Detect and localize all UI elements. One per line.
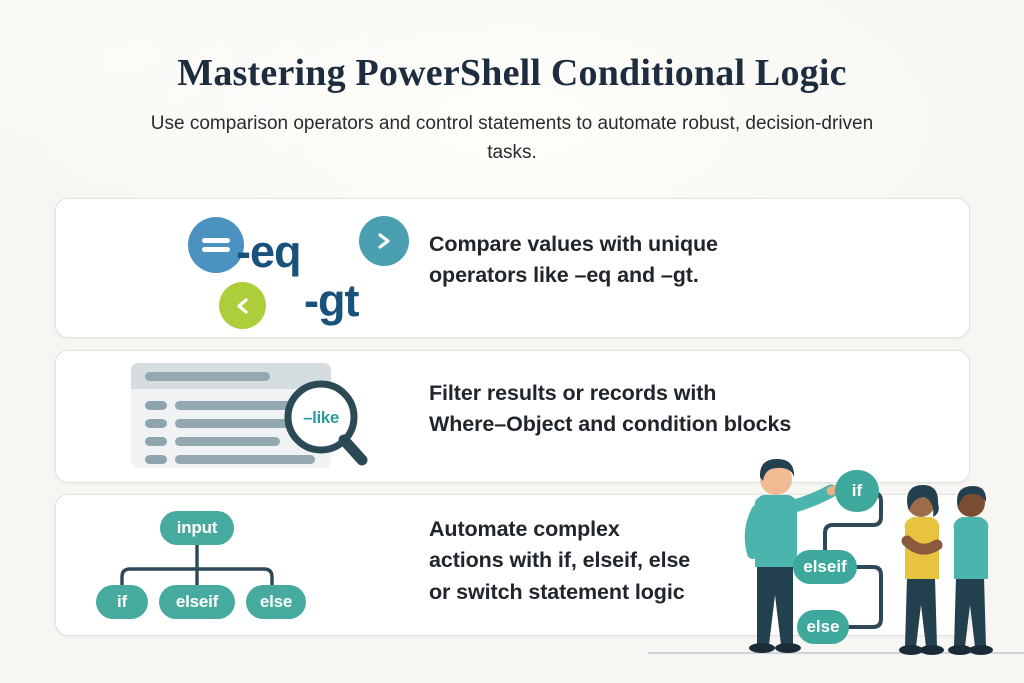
card-3-line-2: actions with if, elseif, else xyxy=(429,545,690,576)
illustration-pill-elseif: elseif xyxy=(793,550,857,584)
flow-node-input: input xyxy=(160,511,234,545)
flow-node-if: if xyxy=(96,585,148,619)
page-subtitle: Use comparison operators and control sta… xyxy=(132,110,892,168)
presenter-illustration: if elseif else xyxy=(735,455,1024,665)
page-title: Mastering PowerShell Conditional Logic xyxy=(0,52,1024,96)
illustration-people xyxy=(735,455,1024,665)
less-than-icon xyxy=(219,282,266,329)
infographic-page: Mastering PowerShell Conditional Logic U… xyxy=(0,0,1024,683)
card-2-line-1: Filter results or records with xyxy=(429,378,791,409)
search-icon: –like xyxy=(271,377,371,469)
card-1-line-1: Compare values with unique xyxy=(429,229,718,260)
filter-list-art: –like xyxy=(131,363,411,473)
subtitle-line-1: Use comparison operators and control sta… xyxy=(151,113,740,134)
audience-figure-1 xyxy=(899,485,944,655)
card-3-line-3: or switch statement logic xyxy=(429,577,690,608)
header: Mastering PowerShell Conditional Logic U… xyxy=(0,52,1024,167)
list-item-marker xyxy=(145,437,167,446)
list-item-marker xyxy=(145,419,167,428)
flow-node-elseif: elseif xyxy=(159,585,235,619)
operator-gt-label: -gt xyxy=(304,278,358,323)
list-item-bar xyxy=(175,437,280,446)
illustration-pill-else: else xyxy=(797,610,849,644)
chevron-right-glyph xyxy=(376,233,392,249)
conditional-flow-tree-art: input if elseif else xyxy=(76,503,376,628)
card-2-line-2: Where–Object and condition blocks xyxy=(429,409,791,440)
list-header-title-bar xyxy=(145,372,270,381)
greater-than-icon xyxy=(359,216,409,266)
equals-glyph xyxy=(201,236,231,254)
audience-figure-2 xyxy=(948,486,993,655)
illustration-pill-if: if xyxy=(835,470,879,512)
list-item-marker xyxy=(145,455,167,464)
card-2-description: Filter results or records with Where–Obj… xyxy=(429,378,791,441)
card-1-description: Compare values with unique operators lik… xyxy=(429,229,718,292)
like-operator-label: –like xyxy=(291,408,351,428)
chevron-left-glyph xyxy=(235,298,251,314)
card-3-description: Automate complex actions with if, elseif… xyxy=(429,514,690,608)
feature-card-operators: -eq -gt Compare values with unique opera… xyxy=(55,198,970,338)
operator-eq-label: -eq xyxy=(236,229,301,274)
comparison-operators-art: -eq -gt xyxy=(76,199,426,337)
list-item-marker xyxy=(145,401,167,410)
card-1-line-2: operators like –eq and –gt. xyxy=(429,260,718,291)
card-3-line-1: Automate complex xyxy=(429,514,690,545)
flow-node-else: else xyxy=(246,585,306,619)
